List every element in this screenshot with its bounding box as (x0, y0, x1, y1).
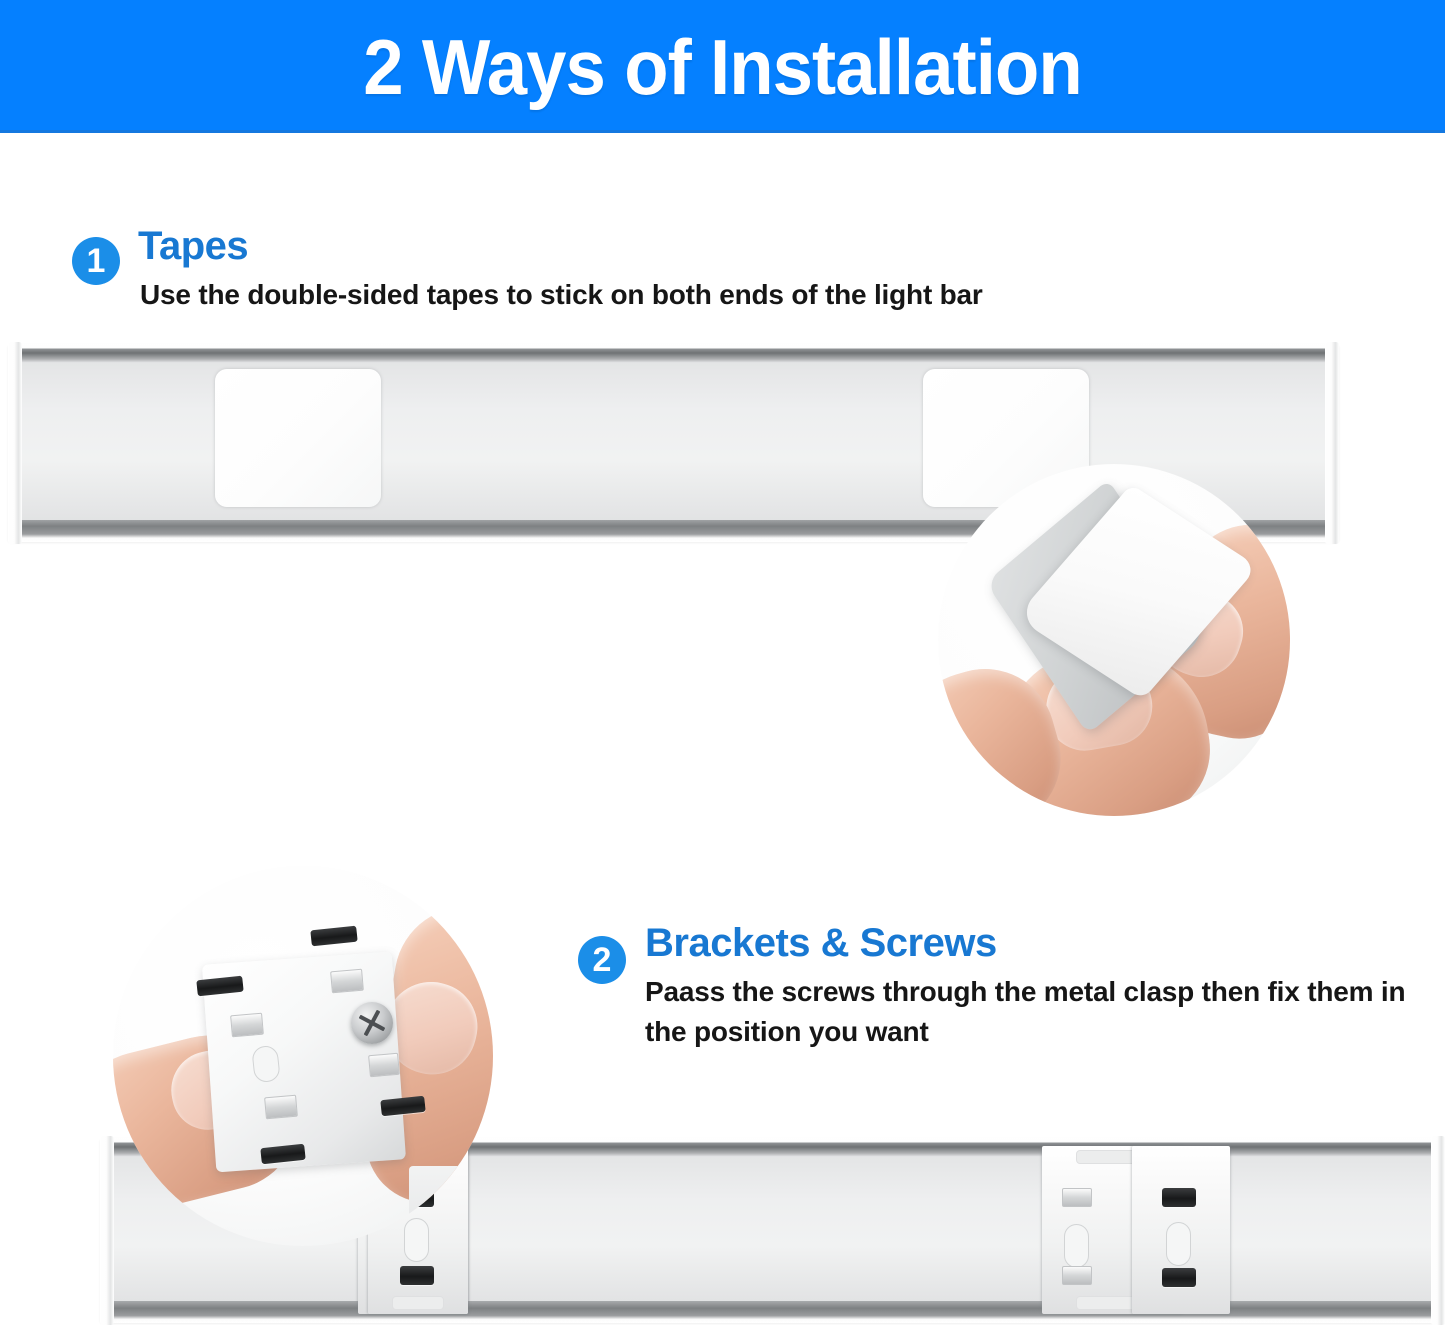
header-banner: 2 Ways of Installation (0, 0, 1445, 133)
bracket-screw-slot (1064, 1224, 1089, 1268)
clasp-tab-light-upper-left (230, 1013, 264, 1038)
step-2-title: Brackets & Screws (645, 921, 997, 966)
clasp-detail-photo (113, 866, 493, 1246)
bracket-notch-bottom (392, 1296, 444, 1310)
bracket-tab-dark-bottom (400, 1266, 434, 1285)
bracket-tab-light-top (1062, 1188, 1092, 1207)
step-1-description: Use the double-sided tapes to stick on b… (140, 275, 1140, 315)
clasp-tab-light-lower-left (264, 1095, 298, 1120)
mounting-bracket-right-inner (1132, 1146, 1230, 1314)
screw-head (351, 1002, 393, 1044)
bracket-tab-dark-top (1162, 1188, 1196, 1207)
step-2-description: Paass the screws through the metal clasp… (645, 972, 1435, 1052)
light-bar-slot-in-photo (461, 1206, 481, 1240)
light-bar-end-cap-left (100, 1136, 114, 1325)
bracket-tab-light-bottom (1062, 1266, 1092, 1285)
light-bar-end-cap-left (8, 342, 22, 544)
bracket-screw-slot (1166, 1222, 1191, 1266)
clasp-tab-dark-upper-right (310, 926, 357, 947)
step-1-title: Tapes (138, 224, 248, 269)
light-bar-end-cap-right (1431, 1136, 1445, 1325)
page-title: 2 Ways of Installation (51, 22, 1395, 113)
step-2-number-badge: 2 (578, 936, 626, 984)
bracket-tab-dark-bottom (1162, 1268, 1196, 1287)
adhesive-tape-pad-left (215, 369, 381, 507)
step-1-number-badge: 1 (72, 237, 120, 285)
light-bar-tab-in-photo (459, 1178, 485, 1192)
tape-peel-detail-photo (938, 464, 1290, 816)
clasp-tab-light-lower-right (368, 1053, 400, 1078)
light-bar-edge-in-photo (938, 500, 992, 512)
light-bar-end-cap-right (1325, 342, 1339, 544)
clasp-tab-light-upper-right (330, 969, 364, 994)
